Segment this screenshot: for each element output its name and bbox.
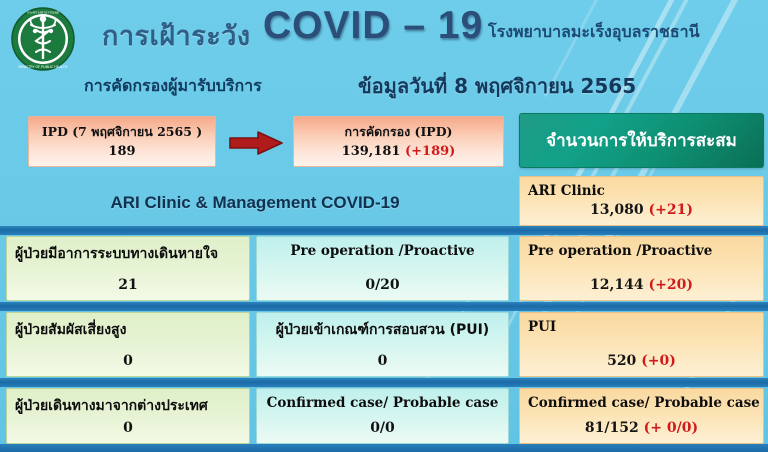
right-arrow-icon bbox=[228, 130, 284, 156]
high-risk-contact-value: 0 bbox=[7, 353, 249, 369]
ipd-source-title: IPD (7 พฤศจิกายน 2565 ) bbox=[29, 122, 215, 142]
pre-operation-proactive-total-number: 12,144 bbox=[590, 277, 644, 293]
pre-operation-proactive-title: Pre operation /Proactive bbox=[257, 243, 508, 259]
high-risk-contact-title: ผู้ป่วยสัมผัสเสี่ยงสูง bbox=[15, 319, 241, 341]
table-row: ผู้ป่วยสัมผัสเสี่ยงสูง 0 bbox=[6, 312, 250, 377]
pui-total-title: PUI bbox=[528, 319, 755, 335]
pui-total-value: 520 (+0) bbox=[520, 353, 763, 369]
screening-subtitle: การคัดกรองผู้มารับบริการ bbox=[84, 74, 262, 99]
table-row: ผู้ป่วยเข้าเกณฑ์การสอบสวน (PUI) 0 bbox=[256, 312, 509, 377]
respiratory-symptoms-title: ผู้ป่วยมีอาการระบบทางเดินหายใจ bbox=[15, 243, 241, 265]
table-row: ผู้ป่วยมีอาการระบบทางเดินหายใจ 21 bbox=[6, 236, 250, 301]
pre-operation-proactive-total-title: Pre operation /Proactive bbox=[528, 243, 755, 259]
table-row: Confirmed case/ Probable case 81/152 (+ … bbox=[519, 388, 764, 444]
hospital-name: โรงพยาบาลมะเร็งอุบลราชธานี bbox=[488, 20, 700, 45]
ipd-source-value: 189 bbox=[29, 144, 215, 159]
respiratory-symptoms-value: 21 bbox=[7, 277, 249, 293]
confirmed-probable-value: 0/0 bbox=[257, 420, 508, 436]
table-row: Pre operation /Proactive 12,144 (+20) bbox=[519, 236, 764, 301]
pui-total-delta: (+0) bbox=[641, 353, 676, 369]
pre-operation-proactive-total-value: 12,144 (+20) bbox=[520, 277, 763, 293]
pui-value: 0 bbox=[257, 353, 508, 369]
table-row: ผู้ป่วยเดินทางมาจากต่างประเทศ 0 bbox=[6, 388, 250, 444]
ipd-screening-value: 139,181 (+189) bbox=[294, 144, 503, 159]
row-separator-1 bbox=[0, 226, 768, 235]
pre-operation-proactive-value: 0/20 bbox=[257, 277, 508, 293]
confirmed-probable-total-delta: (+ 0/0) bbox=[644, 420, 698, 436]
page-header: กระทรวงสาธารณสุข MINISTRY OF PUBLIC HEAL… bbox=[0, 0, 768, 110]
ari-clinic-total-card: ARI Clinic 13,080 (+21) bbox=[519, 176, 764, 226]
covid-surveillance-dashboard: กระทรวงสาธารณสุข MINISTRY OF PUBLIC HEAL… bbox=[0, 0, 768, 452]
ari-clinic-total-delta: (+21) bbox=[649, 202, 693, 218]
table-row: PUI 520 (+0) bbox=[519, 312, 764, 377]
confirmed-probable-total-number: 81/152 bbox=[585, 420, 639, 436]
ipd-screening-title: การคัดกรอง (IPD) bbox=[294, 122, 503, 142]
row-separator-3 bbox=[0, 378, 768, 387]
section-title-ari-clinic: ARI Clinic & Management COVID-19 bbox=[0, 193, 510, 213]
pre-operation-proactive-total-delta: (+20) bbox=[649, 277, 693, 293]
ipd-screening-card: การคัดกรอง (IPD) 139,181 (+189) bbox=[293, 116, 504, 167]
table-row: Pre operation /Proactive 0/20 bbox=[256, 236, 509, 301]
ari-clinic-total-number: 13,080 bbox=[590, 202, 644, 218]
svg-text:MINISTRY OF PUBLIC HEALTH: MINISTRY OF PUBLIC HEALTH bbox=[19, 65, 68, 69]
data-date-reflection: ข้อมูลวันที่ 8 พฤศจิกายน 2565 bbox=[358, 96, 636, 112]
from-abroad-title: ผู้ป่วยเดินทางมาจากต่างประเทศ bbox=[15, 395, 241, 417]
pui-title: ผู้ป่วยเข้าเกณฑ์การสอบสวน (PUI) bbox=[257, 319, 508, 341]
pui-total-number: 520 bbox=[607, 353, 636, 369]
title-row: การเฝ้าระวัง COVID – 19 โรงพยาบาลมะเร็งอ… bbox=[88, 6, 728, 58]
subtitle-row: การคัดกรองผู้มารับบริการ ข้อมูลวันที่ 8 … bbox=[0, 70, 768, 106]
bottom-border bbox=[0, 444, 768, 452]
ipd-source-card: IPD (7 พฤศจิกายน 2565 ) 189 bbox=[28, 116, 216, 167]
confirmed-probable-title: Confirmed case/ Probable case bbox=[257, 395, 508, 411]
confirmed-probable-total-title: Confirmed case/ Probable case bbox=[528, 395, 755, 411]
ministry-of-public-health-logo-icon: กระทรวงสาธารณสุข MINISTRY OF PUBLIC HEAL… bbox=[10, 6, 76, 72]
accumulated-services-header: จำนวนการให้บริการสะสม bbox=[519, 113, 764, 168]
ari-clinic-total-value: 13,080 (+21) bbox=[520, 202, 763, 218]
ipd-screening-delta: (+189) bbox=[405, 144, 455, 159]
table-row: Confirmed case/ Probable case 0/0 bbox=[256, 388, 509, 444]
ari-clinic-total-title: ARI Clinic bbox=[528, 183, 755, 199]
from-abroad-value: 0 bbox=[7, 420, 249, 436]
accumulated-services-label: จำนวนการให้บริการสะสม bbox=[520, 114, 763, 167]
row-separator-2 bbox=[0, 302, 768, 311]
page-title: COVID – 19 bbox=[263, 4, 483, 48]
confirmed-probable-total-value: 81/152 (+ 0/0) bbox=[520, 420, 763, 436]
title-thai: การเฝ้าระวัง bbox=[102, 14, 251, 57]
ipd-screening-number: 139,181 bbox=[342, 144, 401, 159]
